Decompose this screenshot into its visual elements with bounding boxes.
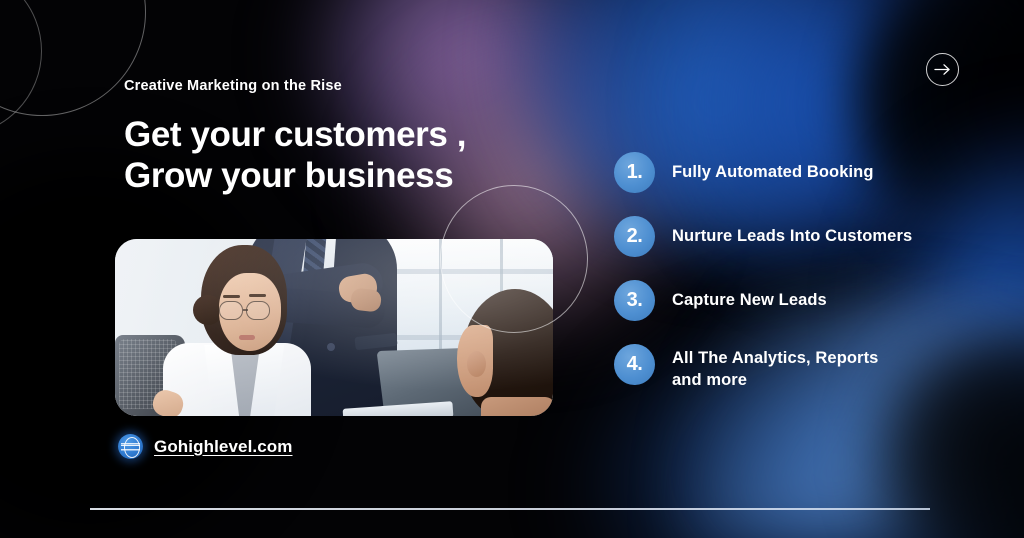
- feature-number-badge: 3.: [614, 280, 655, 321]
- globe-icon-lines: [121, 440, 140, 453]
- hero-photo: [115, 239, 553, 416]
- eyebrow-text: Creative Marketing on the Rise: [124, 78, 594, 94]
- list-item[interactable]: 2. Nurture Leads Into Customers: [614, 216, 974, 257]
- photo-scene: [115, 239, 553, 416]
- list-item[interactable]: 3. Capture New Leads: [614, 280, 974, 321]
- globe-icon: [118, 434, 143, 459]
- website-link[interactable]: Gohighlevel.com: [118, 434, 292, 459]
- feature-number-badge: 4.: [614, 344, 655, 385]
- feature-label: Fully Automated Booking: [672, 152, 874, 183]
- bottom-divider: [90, 508, 930, 510]
- feature-label: All The Analytics, Reports and more: [672, 344, 878, 391]
- slide-canvas: Creative Marketing on the Rise Get your …: [0, 0, 1024, 538]
- decorative-circle-top-left-small: [0, 0, 42, 136]
- list-item[interactable]: 1. Fully Automated Booking: [614, 152, 974, 193]
- arrow-right-icon: [934, 63, 951, 76]
- feature-label: Capture New Leads: [672, 280, 827, 311]
- photo-light-sheen: [115, 239, 553, 416]
- list-item[interactable]: 4. All The Analytics, Reports and more: [614, 344, 974, 391]
- feature-number-badge: 2.: [614, 216, 655, 257]
- website-link-label[interactable]: Gohighlevel.com: [154, 437, 292, 457]
- feature-number-badge: 1.: [614, 152, 655, 193]
- hero-text-block: Creative Marketing on the Rise Get your …: [124, 78, 594, 196]
- feature-list: 1. Fully Automated Booking 2. Nurture Le…: [614, 152, 974, 391]
- feature-label: Nurture Leads Into Customers: [672, 216, 912, 247]
- page-title: Get your customers , Grow your business: [124, 115, 594, 196]
- next-arrow-button[interactable]: [926, 53, 959, 86]
